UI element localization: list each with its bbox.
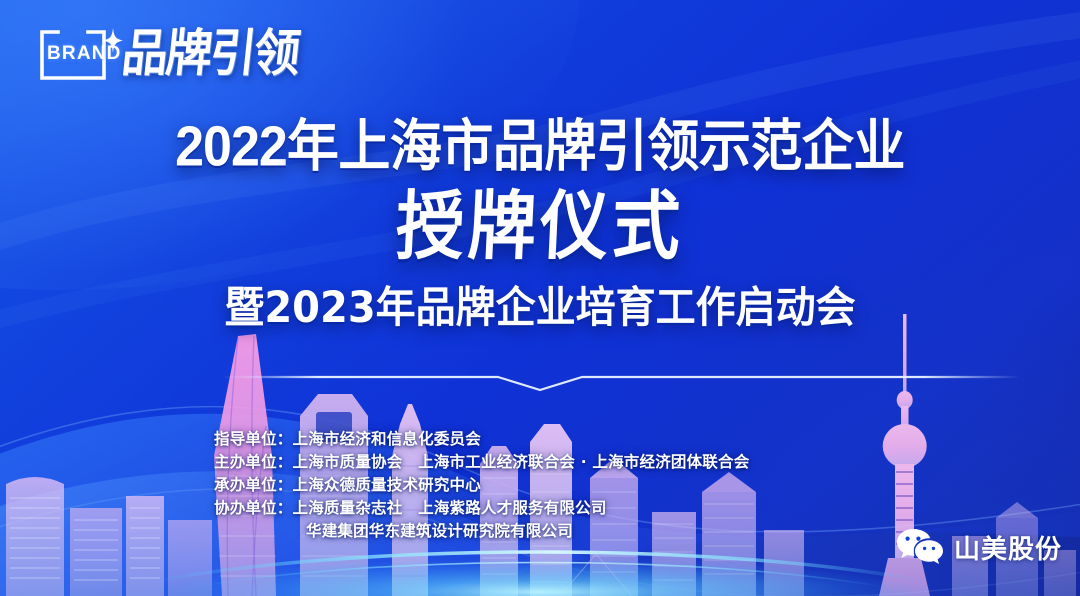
title-line-1-rest: 年上海市品牌引领示范企业 bbox=[287, 115, 905, 180]
brand-chinese-text: 品牌引领 bbox=[119, 28, 301, 83]
title-group: 2022年上海市品牌引领示范企业 授牌仪式 暨2023年品牌企业培育工作启动会 bbox=[0, 118, 1080, 330]
organizer-value: 上海市经济和信息化委员会 bbox=[293, 430, 481, 448]
organizer-row: 指导单位：上海市经济和信息化委员会 bbox=[214, 428, 749, 451]
organizer-row: 主办单位：上海市质量协会 上海市工业经济联合会 · 上海市经济团体联合会 bbox=[214, 451, 749, 474]
organizer-continuation-row: 华建集团华东建筑设计研究院有限公司 bbox=[214, 520, 749, 543]
organizer-label: 指导单位： bbox=[214, 428, 293, 451]
brand-mark: BRAND bbox=[36, 24, 124, 86]
title-line-2: 授牌仪式 bbox=[0, 189, 1080, 268]
organizer-row: 承办单位：上海众德质量技术研究中心 bbox=[214, 474, 749, 497]
organizer-value: 上海市质量协会 上海市工业经济联合会 · 上海市经济团体联合会 bbox=[293, 453, 750, 471]
wechat-icon bbox=[896, 526, 944, 568]
organizer-label: 协办单位： bbox=[214, 497, 293, 520]
organizer-label: 主办单位： bbox=[214, 451, 293, 474]
organizer-continuation-value: 华建集团华东建筑设计研究院有限公司 bbox=[306, 522, 573, 540]
organizer-value: 上海众德质量技术研究中心 bbox=[293, 476, 481, 494]
building-cluster-left bbox=[6, 477, 212, 596]
wechat-account-name: 山美股份 bbox=[954, 529, 1062, 566]
organizer-label: 承办单位： bbox=[214, 474, 293, 497]
poster-canvas: BRAND 品牌引领 bbox=[0, 0, 1080, 596]
brand-logo: BRAND 品牌引领 bbox=[36, 24, 298, 86]
organizer-list: 指导单位：上海市经济和信息化委员会 主办单位：上海市质量协会 上海市工业经济联合… bbox=[214, 428, 749, 543]
title-line-3: 暨2023年品牌企业培育工作启动会 bbox=[0, 284, 1080, 331]
title-line-1: 2022年上海市品牌引领示范企业 bbox=[0, 116, 1080, 179]
title-year: 2022 bbox=[175, 116, 287, 179]
wechat-account-badge[interactable]: 山美股份 bbox=[896, 526, 1062, 568]
organizer-row: 协办单位：上海质量杂志社 上海紫路人才服务有限公司 bbox=[214, 497, 749, 520]
organizer-value: 上海质量杂志社 上海紫路人才服务有限公司 bbox=[293, 499, 607, 517]
brand-word-text: BRAND bbox=[47, 43, 122, 65]
decorative-divider bbox=[0, 368, 1080, 396]
